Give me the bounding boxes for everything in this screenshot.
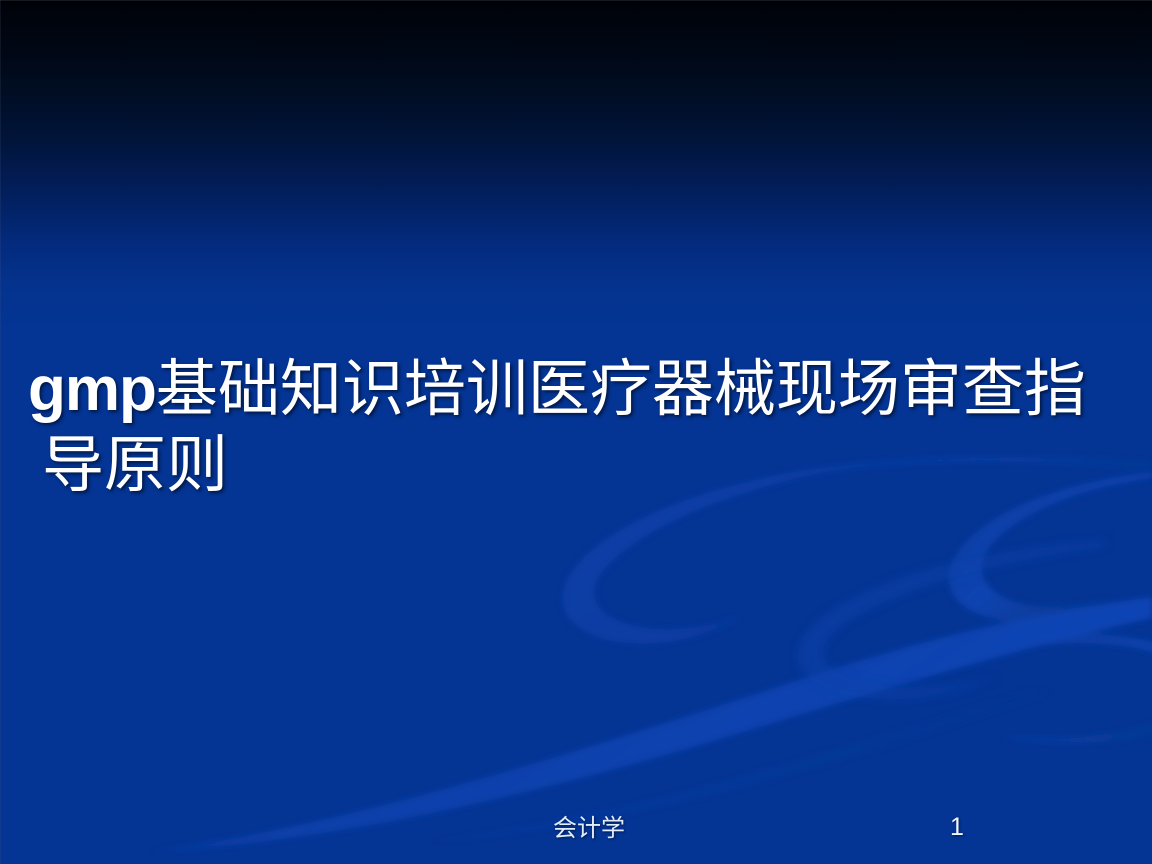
page-number: 1 bbox=[950, 812, 964, 842]
presentation-slide: gmp基础知识培训医疗器械现场审查指 导原则 会计学 1 bbox=[0, 0, 1152, 864]
title-latin-text: gmp bbox=[28, 355, 156, 424]
title-line-2: 导原则 bbox=[28, 428, 1128, 504]
title-line-1: gmp基础知识培训医疗器械现场审查指 bbox=[28, 352, 1128, 428]
slide-title: gmp基础知识培训医疗器械现场审查指 导原则 bbox=[28, 352, 1128, 504]
title-han-text: 基础知识培训医疗器械现场审查指 bbox=[156, 356, 1086, 424]
footer-label: 会计学 bbox=[553, 814, 625, 844]
